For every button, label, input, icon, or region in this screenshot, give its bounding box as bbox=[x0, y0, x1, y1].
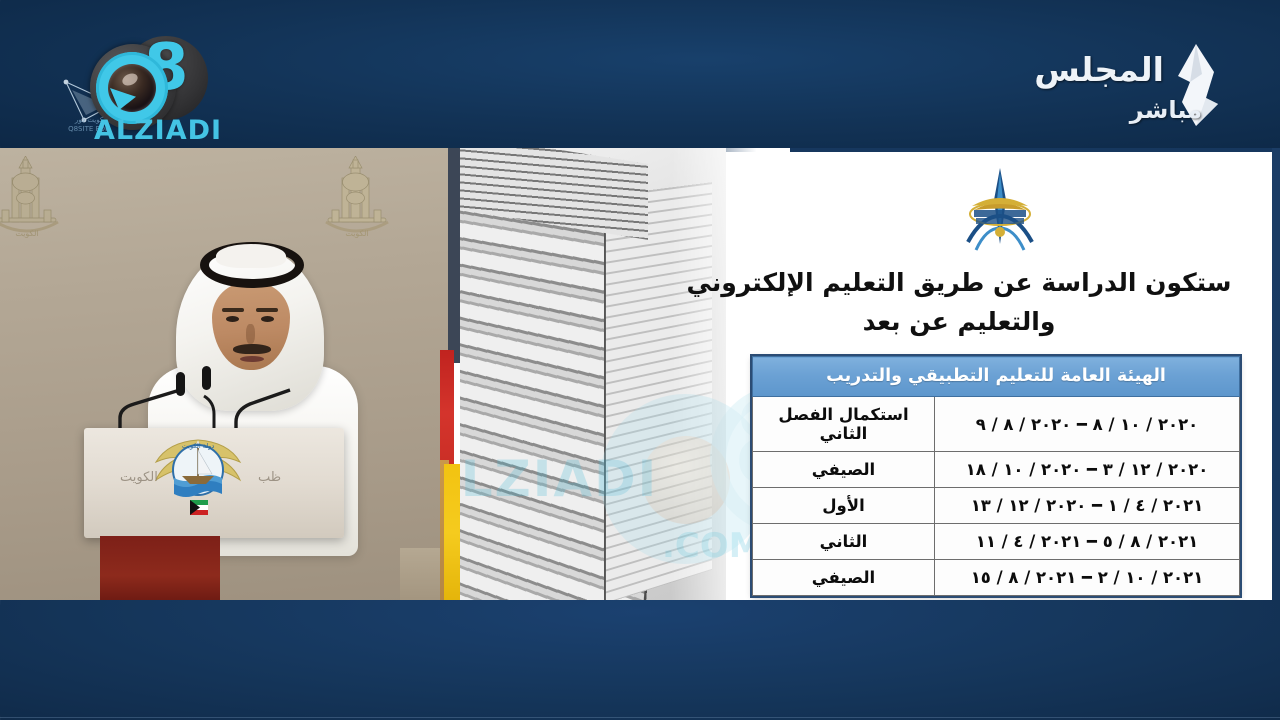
cell-dates: ٢٠٢١ / ٤ / ١ ━ ٢٠٢٠ / ١٢ / ١٣ bbox=[935, 488, 1240, 524]
table-row: ٢٠٢٠ / ١٢ / ٣ ━ ٢٠٢٠ / ١٠ / ١٨الصيفي bbox=[753, 452, 1240, 488]
kuwait-state-emblem-icon: دولة الكويت bbox=[148, 434, 248, 520]
cell-term: الصيفي bbox=[753, 452, 935, 488]
cell-term: استكمال الفصل الثاني bbox=[753, 397, 935, 452]
eyebrow-left bbox=[222, 308, 244, 312]
left-camera-feed: الكويت الكويت bbox=[0, 148, 448, 600]
channel-logo: المجلس مباشر bbox=[1022, 46, 1222, 146]
seam-dark-bar bbox=[448, 148, 460, 363]
cell-term: الأول bbox=[753, 488, 935, 524]
lens-aperture bbox=[108, 64, 156, 112]
svg-text:الكويت: الكويت bbox=[345, 229, 368, 238]
cell-term: الثاني bbox=[753, 524, 935, 560]
cell-dates: ٢٠٢١ / ١٠ / ٢ ━ ٢٠٢١ / ٨ / ١٥ bbox=[935, 560, 1240, 596]
cell-dates: ٢٠٢٠ / ١٢ / ٣ ━ ٢٠٢٠ / ١٠ / ١٨ bbox=[935, 452, 1240, 488]
logo-brand-text: ALZIADI bbox=[94, 115, 222, 146]
slide-headline: ستكون الدراسة عن طريق التعليم الإلكتروني… bbox=[676, 264, 1242, 342]
top-banner: 8 كويت فور Q8SITE FOR ALZIADI المجلس مبا… bbox=[0, 0, 1280, 148]
wall-tower-emblem-icon-right: الكويت bbox=[318, 156, 396, 246]
slide-right-border bbox=[1272, 148, 1280, 600]
eye-left bbox=[226, 316, 239, 322]
alziadi-q8-logo: 8 كويت فور Q8SITE FOR ALZIADI bbox=[62, 30, 232, 148]
table-row: ٢٠٢١ / ٤ / ١ ━ ٢٠٢٠ / ١٢ / ١٣الأول bbox=[753, 488, 1240, 524]
broadcast-screen: 8 كويت فور Q8SITE FOR ALZIADI المجلس مبا… bbox=[0, 0, 1280, 720]
cell-dates: ٢٠٢٠ / ١٠ / ٨ ━ ٢٠٢٠ / ٨ / ٩ bbox=[935, 397, 1240, 452]
table-head: الهيئة العامة للتعليم التطبيقي والتدريب bbox=[753, 357, 1240, 397]
podium-base bbox=[100, 536, 220, 600]
presentation-slide: ستكون الدراسة عن طريق التعليم الإلكتروني… bbox=[460, 148, 1280, 600]
eye-right bbox=[261, 316, 274, 322]
wall-tower-emblem-icon: الكويت bbox=[0, 156, 66, 246]
svg-text:الكويت: الكويت bbox=[15, 229, 38, 238]
live-badge: مباشر bbox=[1130, 96, 1202, 124]
ghutra-crown bbox=[216, 244, 286, 268]
logo-camera-lens-icon bbox=[96, 52, 168, 124]
bottom-decorative-streaks bbox=[0, 600, 1280, 720]
table-header-row: الهيئة العامة للتعليم التطبيقي والتدريب bbox=[753, 357, 1240, 397]
headline-line-2: والتعليم عن بعد bbox=[676, 303, 1242, 342]
eyebrow-right bbox=[256, 308, 278, 312]
bottom-hairline bbox=[0, 717, 1280, 718]
cell-term: الصيفي bbox=[753, 560, 935, 596]
table-row: ٢٠٢٠ / ١٠ / ٨ ━ ٢٠٢٠ / ٨ / ٩استكمال الفص… bbox=[753, 397, 1240, 452]
nose bbox=[246, 324, 255, 344]
table-row: ٢٠٢١ / ١٠ / ٢ ━ ٢٠٢١ / ٨ / ١٥الصيفي bbox=[753, 560, 1240, 596]
table-body: ٢٠٢٠ / ١٠ / ٨ ━ ٢٠٢٠ / ٨ / ٩استكمال الفص… bbox=[753, 397, 1240, 596]
academic-calendar-table: الهيئة العامة للتعليم التطبيقي والتدريب … bbox=[752, 356, 1240, 596]
bottom-banner bbox=[0, 600, 1280, 720]
svg-text:دولة الكويت: دولة الكويت bbox=[182, 442, 215, 450]
channel-name: المجلس bbox=[1034, 50, 1164, 89]
table-row: ٢٠٢١ / ٨ / ٥ ━ ٢٠٢١ / ٤ / ١١الثاني bbox=[753, 524, 1240, 560]
podium-script-right: ظب bbox=[258, 470, 281, 485]
headline-line-1: ستكون الدراسة عن طريق التعليم الإلكتروني bbox=[676, 264, 1242, 303]
table-title-cell: الهيئة العامة للتعليم التطبيقي والتدريب bbox=[753, 357, 1240, 397]
cell-dates: ٢٠٢١ / ٨ / ٥ ━ ٢٠٢١ / ٤ / ١١ bbox=[935, 524, 1240, 560]
video-frame: الكويت الكويت bbox=[0, 148, 1280, 600]
podium-script-left: الكويت bbox=[120, 470, 158, 485]
seam-yellow-strip bbox=[444, 464, 460, 600]
paaet-logo-icon bbox=[950, 166, 1050, 264]
